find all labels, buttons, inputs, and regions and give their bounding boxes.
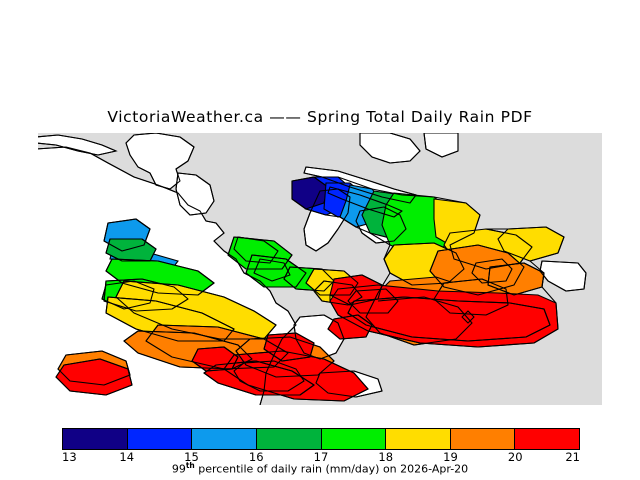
colorbar-caption-rest: percentile of daily rain (mm/day) on 202…: [195, 463, 468, 476]
colorbar-segment-6[interactable]: [450, 429, 515, 449]
colorbar-caption: 99th percentile of daily rain (mm/day) o…: [0, 461, 640, 476]
colorbar-caption-superscript: th: [186, 461, 195, 470]
page-title: VictoriaWeather.ca —— Spring Total Daily…: [0, 108, 640, 126]
colorbar-segment-4[interactable]: [321, 429, 386, 449]
colorbar-segment-5[interactable]: [385, 429, 450, 449]
colorbar[interactable]: [62, 428, 580, 450]
colorbar-caption-prefix: 99: [172, 463, 186, 476]
colorbar-segment-1[interactable]: [127, 429, 192, 449]
colorbar-segment-3[interactable]: [256, 429, 321, 449]
figure-root: VictoriaWeather.ca —— Spring Total Daily…: [0, 0, 640, 480]
colorbar-segment-0[interactable]: [63, 429, 127, 449]
map-canvas[interactable]: [38, 133, 602, 405]
colorbar-segment-7[interactable]: [514, 429, 579, 449]
colorbar-segment-2[interactable]: [191, 429, 256, 449]
map-panel[interactable]: [38, 133, 602, 405]
